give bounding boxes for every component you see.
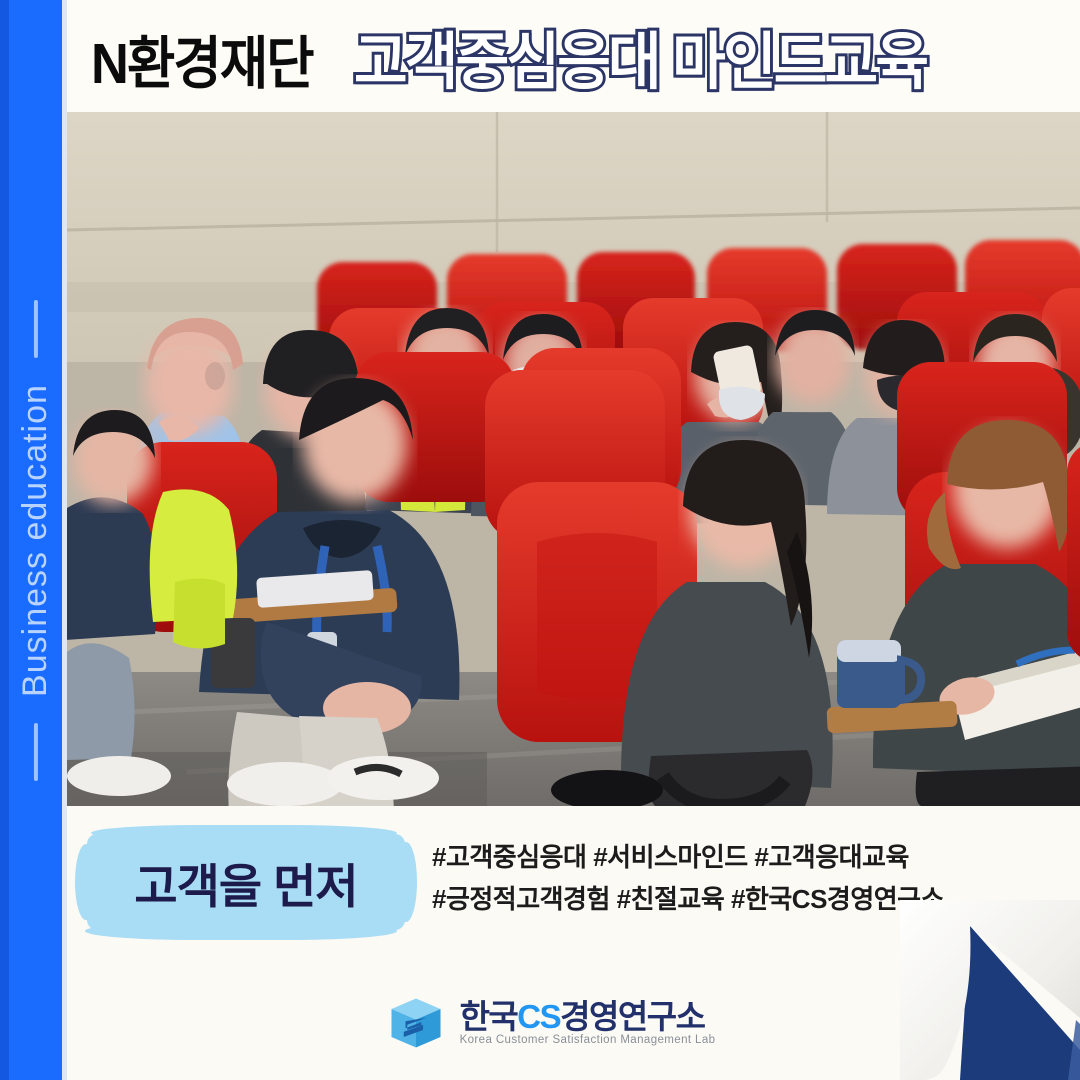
rail-inner: Business education xyxy=(9,0,62,1080)
footer-bar: 한국CS경영연구소 Korea Customer Satisfaction Ma… xyxy=(67,966,1080,1080)
logo-name-pre: 한국 xyxy=(460,998,518,1035)
cube-s-logo-icon xyxy=(388,995,444,1051)
company-logo: 한국CS경영연구소 Korea Customer Satisfaction Ma… xyxy=(388,995,716,1051)
title-group: N환경재단 고객중심응대 마인드교육 xyxy=(91,11,963,101)
page-title: 고객중심응대 마인드교육 xyxy=(354,11,926,101)
caption-strip: 고객을 먼저 #고객중심응대 #서비스마인드 #고객응대교육 #긍정적고객경험 … xyxy=(67,806,1080,966)
photo-illustration xyxy=(67,112,1080,806)
brand-name: N환경재단 xyxy=(91,18,313,100)
logo-text-block: 한국CS경영연구소 Korea Customer Satisfaction Ma… xyxy=(460,1000,716,1047)
logo-name-cs: CS xyxy=(517,998,560,1035)
rail-dash-right xyxy=(34,300,38,358)
highlight-label: 고객을 먼저 xyxy=(87,834,405,930)
hashtag-block: #고객중심응대 #서비스마인드 #고객응대교육 #긍정적고객경험 #친절교육 #… xyxy=(432,836,1032,920)
logo-name-post: 경영연구소 xyxy=(560,998,704,1035)
rail-dash-left xyxy=(34,722,38,780)
hashtag-line-2: #긍정적고객경험 #친절교육 #한국CS경영연구소 xyxy=(432,878,1032,920)
logo-subtitle: Korea Customer Satisfaction Management L… xyxy=(460,1035,716,1047)
rail-label-group: Business education xyxy=(16,300,55,781)
side-rail: Business education xyxy=(0,0,62,1080)
header-bar: N환경재단 고객중심응대 마인드교육 xyxy=(67,0,1080,112)
event-photo xyxy=(67,112,1080,806)
logo-name: 한국CS경영연구소 xyxy=(460,1000,716,1033)
rail-edge-stripe xyxy=(0,0,9,1080)
hashtag-line-1: #고객중심응대 #서비스마인드 #고객응대교육 xyxy=(432,836,1032,878)
rail-label: Business education xyxy=(16,384,55,697)
poster-card: Business education N환경재단 고객중심응대 마인드교육 xyxy=(0,0,1080,1080)
